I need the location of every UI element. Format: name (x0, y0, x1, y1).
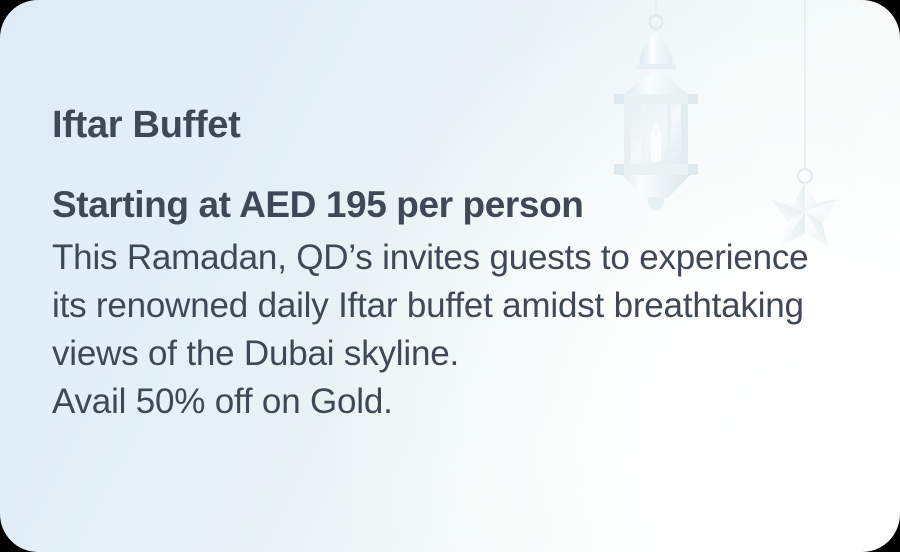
offer-promo-line: Avail 50% off on Gold. (52, 378, 842, 426)
promo-content: Iftar Buffet Starting at AED 195 per per… (52, 98, 842, 426)
iftar-buffet-promo-card: Iftar Buffet Starting at AED 195 per per… (0, 0, 900, 552)
offer-price-headline: Starting at AED 195 per person (52, 152, 842, 228)
offer-title: Iftar Buffet (52, 98, 842, 152)
offer-description: This Ramadan, QD’s invites guests to exp… (52, 228, 812, 378)
